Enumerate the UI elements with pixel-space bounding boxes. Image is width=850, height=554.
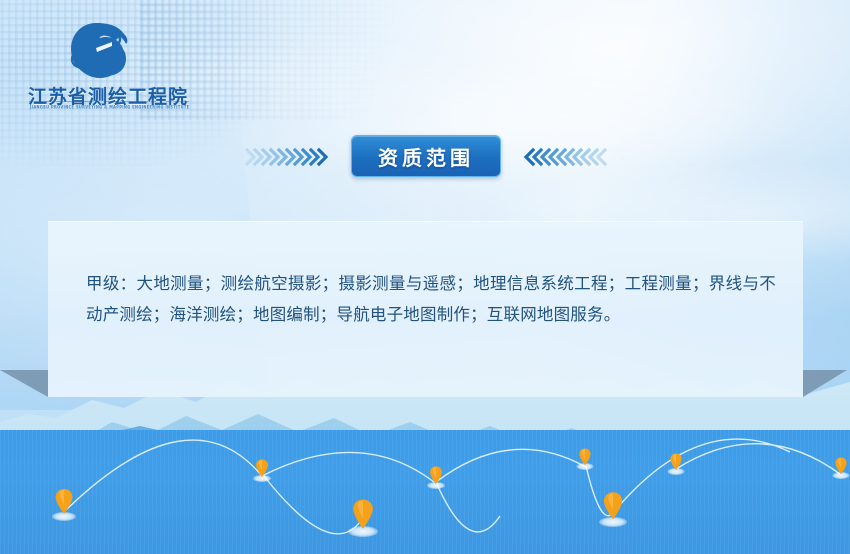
poster-root: 江苏省测绘工程院 JIANGSU PROVINCE SURVEYING & MA… bbox=[0, 0, 850, 554]
marker-pin-icon bbox=[349, 497, 377, 537]
map-marker-5[interactable] bbox=[577, 447, 593, 470]
map-marker-2[interactable] bbox=[253, 458, 270, 482]
marker-pin-icon bbox=[833, 456, 849, 479]
stylized-s-globe-icon bbox=[66, 22, 130, 84]
map-marker-1[interactable] bbox=[52, 487, 76, 521]
qualification-scope-panel: 甲级：大地测量；测绘航空摄影；摄影测量与遥感；地理信息系统工程；工程测量；界线与… bbox=[48, 221, 803, 397]
chevrons-right-icon bbox=[245, 131, 333, 183]
section-title-pill: 资质范围 bbox=[351, 135, 501, 177]
logo-organization-name-en: JIANGSU PROVINCE SURVEYING & MAPPING ENG… bbox=[30, 105, 208, 110]
marker-pin-icon bbox=[668, 452, 684, 475]
map-marker-8[interactable] bbox=[833, 456, 849, 479]
marker-pin-icon bbox=[253, 458, 270, 482]
marker-pin-icon bbox=[577, 447, 593, 470]
section-title-row: 资质范围 bbox=[0, 131, 850, 183]
map-marker-4[interactable] bbox=[427, 465, 444, 489]
marker-pin-icon bbox=[427, 465, 444, 489]
organization-logo: 江苏省测绘工程院 JIANGSU PROVINCE SURVEYING & MA… bbox=[28, 22, 208, 114]
chevrons-left-icon bbox=[519, 131, 607, 183]
marker-pin-icon bbox=[52, 487, 76, 521]
map-marker-7[interactable] bbox=[668, 452, 684, 475]
qualification-scope-text: 甲级：大地测量；测绘航空摄影；摄影测量与遥感；地理信息系统工程；工程测量；界线与… bbox=[86, 268, 776, 330]
marker-pin-icon bbox=[600, 490, 626, 527]
map-marker-6[interactable] bbox=[600, 490, 626, 527]
section-title-text: 资质范围 bbox=[378, 142, 474, 171]
map-marker-3[interactable] bbox=[349, 497, 377, 537]
